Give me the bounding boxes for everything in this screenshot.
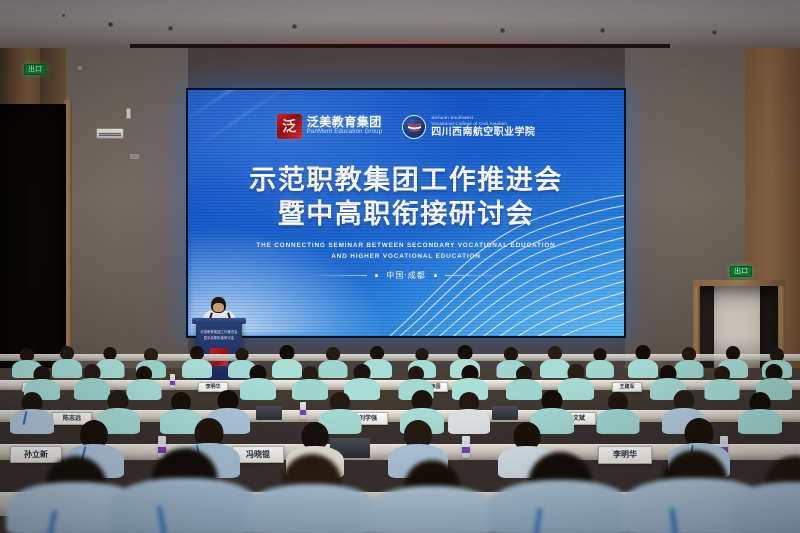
college-emblem-svg [407,120,422,133]
attendee [182,346,212,378]
wall-grey-left [66,48,188,378]
stage-led-screen: 泛 泛美教育集团 PanMerit Education Group [186,88,626,338]
table-row [0,492,800,516]
screen-logo-row: 泛 泛美教育集团 PanMerit Education Group [188,114,624,139]
light-streak [517,90,609,112]
podium-text-line1: 示范职教集团工作推进会 [200,330,238,336]
attendee [388,420,448,478]
exit-sign-right: 出口 [730,266,752,277]
ceiling-spotlight [712,30,717,35]
screen-canvas: 泛 泛美教育集团 PanMerit Education Group [188,90,624,336]
attendee [596,392,639,434]
attendee [448,392,490,434]
speaker-face [213,303,224,312]
conference-hall-photo: 示范职教集团工作推进会暨中高职衔接研讨会 出口 出口 [0,0,800,533]
water-bottle [176,478,189,514]
attendee [64,420,124,478]
laptop [256,406,282,420]
ceiling-spotlight [108,22,113,27]
water-bottle [462,436,470,458]
name-card: 孙立新 [10,446,62,463]
wall-plate-left [130,154,139,159]
attendee [178,418,240,478]
panmerit-seal-icon: 泛 [277,114,302,139]
name-card-text: 冯晓锟 [246,451,270,459]
water-bottle [772,478,785,514]
name-card-text: 李明华 [205,385,220,390]
exit-sign-label: 出口 [28,66,42,73]
name-card: 李明华 [598,446,652,464]
exit-sign-label: 出口 [734,268,748,275]
name-card-text: 王建军 [619,385,634,390]
water-bottle [548,478,561,514]
attendee [286,422,344,478]
screen-wave-lines [354,186,624,336]
name-card-text: 孙立新 [24,451,48,459]
ceiling-spotlight [292,24,297,29]
laptop [492,406,518,420]
ceiling-spotlight [62,14,65,17]
panmerit-name-en: PanMerit Education Group [307,129,383,137]
name-card-text: 刘学强 [359,416,377,422]
wall-vent-left [96,128,124,139]
podium-text: 示范职教集团工作推进会 暨中高职衔接研讨会 [200,330,238,342]
panmerit-name-cn: 泛美教育集团 [307,116,383,129]
college-emblem-icon [402,115,426,139]
podium-text-line2: 暨中高职衔接研讨会 [200,336,238,342]
attendee [668,418,730,478]
audience-area: 冯晓锟 李明华 张伟国 王建军 [0,352,800,533]
attendee [498,422,556,478]
attendee [704,366,739,400]
wall-dot-left [78,66,82,70]
name-card-text: 李明华 [613,451,637,459]
attendee [738,392,782,434]
name-card: 王建军 [612,382,642,392]
attendee [10,392,54,434]
exit-sign-left: 出口 [24,64,46,75]
podium-top [192,318,246,324]
panmerit-seal-glyph: 泛 [282,120,296,134]
water-bottle [158,436,166,458]
college-name-cn: 四川西南航空职业学院 [431,127,535,139]
wall-sensor-left [126,108,131,119]
doorway-left[interactable] [0,104,66,378]
panmerit-logo: 泛 泛美教育集团 PanMerit Education Group [277,114,383,139]
sichuan-aviation-college-logo: Sichuan Southwest Vocational College of … [402,115,535,139]
light-streak [221,90,302,98]
water-bottle [300,402,306,419]
water-bottle [170,374,175,388]
